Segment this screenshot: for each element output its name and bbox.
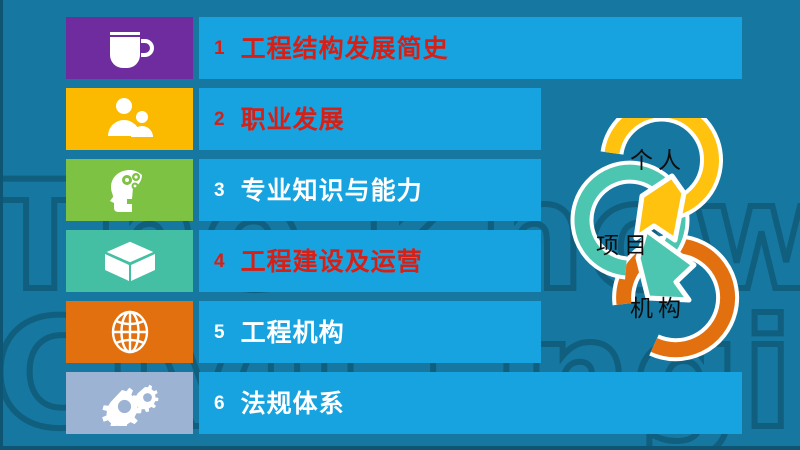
- agenda-icon-tile-1: [66, 17, 193, 79]
- agenda-row-2[interactable]: 2 职业发展: [66, 88, 541, 150]
- globe-icon: [107, 309, 153, 355]
- agenda-number-5: 5: [214, 323, 225, 342]
- cycle-label-project: 项目: [596, 235, 652, 258]
- agenda-bar-1[interactable]: 1 工程结构发展简史: [199, 17, 742, 79]
- agenda-number-4: 4: [214, 252, 225, 271]
- agenda-title-1: 工程结构发展简史: [241, 36, 449, 61]
- coffee-mug-icon: [104, 24, 156, 72]
- cycle-label-org: 机构: [630, 298, 686, 321]
- agenda-title-6: 法规体系: [241, 391, 345, 416]
- people-icon: [105, 96, 155, 142]
- agenda-bar-3[interactable]: 3 专业知识与能力: [199, 159, 541, 221]
- agenda-row-4[interactable]: 4 工程建设及运营: [66, 230, 541, 292]
- agenda-number-3: 3: [214, 181, 225, 200]
- agenda-icon-tile-5: [66, 301, 193, 363]
- agenda-icon-tile-3: [66, 159, 193, 221]
- cycle-diagram: 个人 项目 机构: [568, 118, 800, 363]
- gears-icon: [100, 380, 160, 426]
- agenda-number-2: 2: [214, 110, 225, 129]
- box-3d-icon: [102, 238, 158, 284]
- agenda-number-6: 6: [214, 394, 225, 413]
- agenda-icon-tile-6: [66, 372, 193, 434]
- agenda-bar-5[interactable]: 5 工程机构: [199, 301, 541, 363]
- agenda-bar-6[interactable]: 6 法规体系: [199, 372, 742, 434]
- agenda-bar-4[interactable]: 4 工程建设及运营: [199, 230, 541, 292]
- agenda-title-2: 职业发展: [241, 107, 345, 132]
- head-gears-icon: [105, 166, 155, 214]
- slide-canvas: The Knowled Civil Engin 1 工程结构发展简史: [0, 0, 800, 450]
- agenda-row-5[interactable]: 5 工程机构: [66, 301, 541, 363]
- agenda-bar-2[interactable]: 2 职业发展: [199, 88, 541, 150]
- agenda-row-3[interactable]: 3 专业知识与能力: [66, 159, 541, 221]
- agenda-icon-tile-4: [66, 230, 193, 292]
- agenda-title-5: 工程机构: [241, 320, 345, 345]
- cycle-label-person: 个人: [630, 150, 686, 173]
- agenda-icon-tile-2: [66, 88, 193, 150]
- agenda-title-3: 专业知识与能力: [241, 178, 423, 203]
- agenda-row-1[interactable]: 1 工程结构发展简史: [66, 17, 742, 79]
- agenda-number-1: 1: [214, 39, 225, 58]
- agenda-row-6[interactable]: 6 法规体系: [66, 372, 742, 434]
- agenda-title-4: 工程建设及运营: [241, 249, 423, 274]
